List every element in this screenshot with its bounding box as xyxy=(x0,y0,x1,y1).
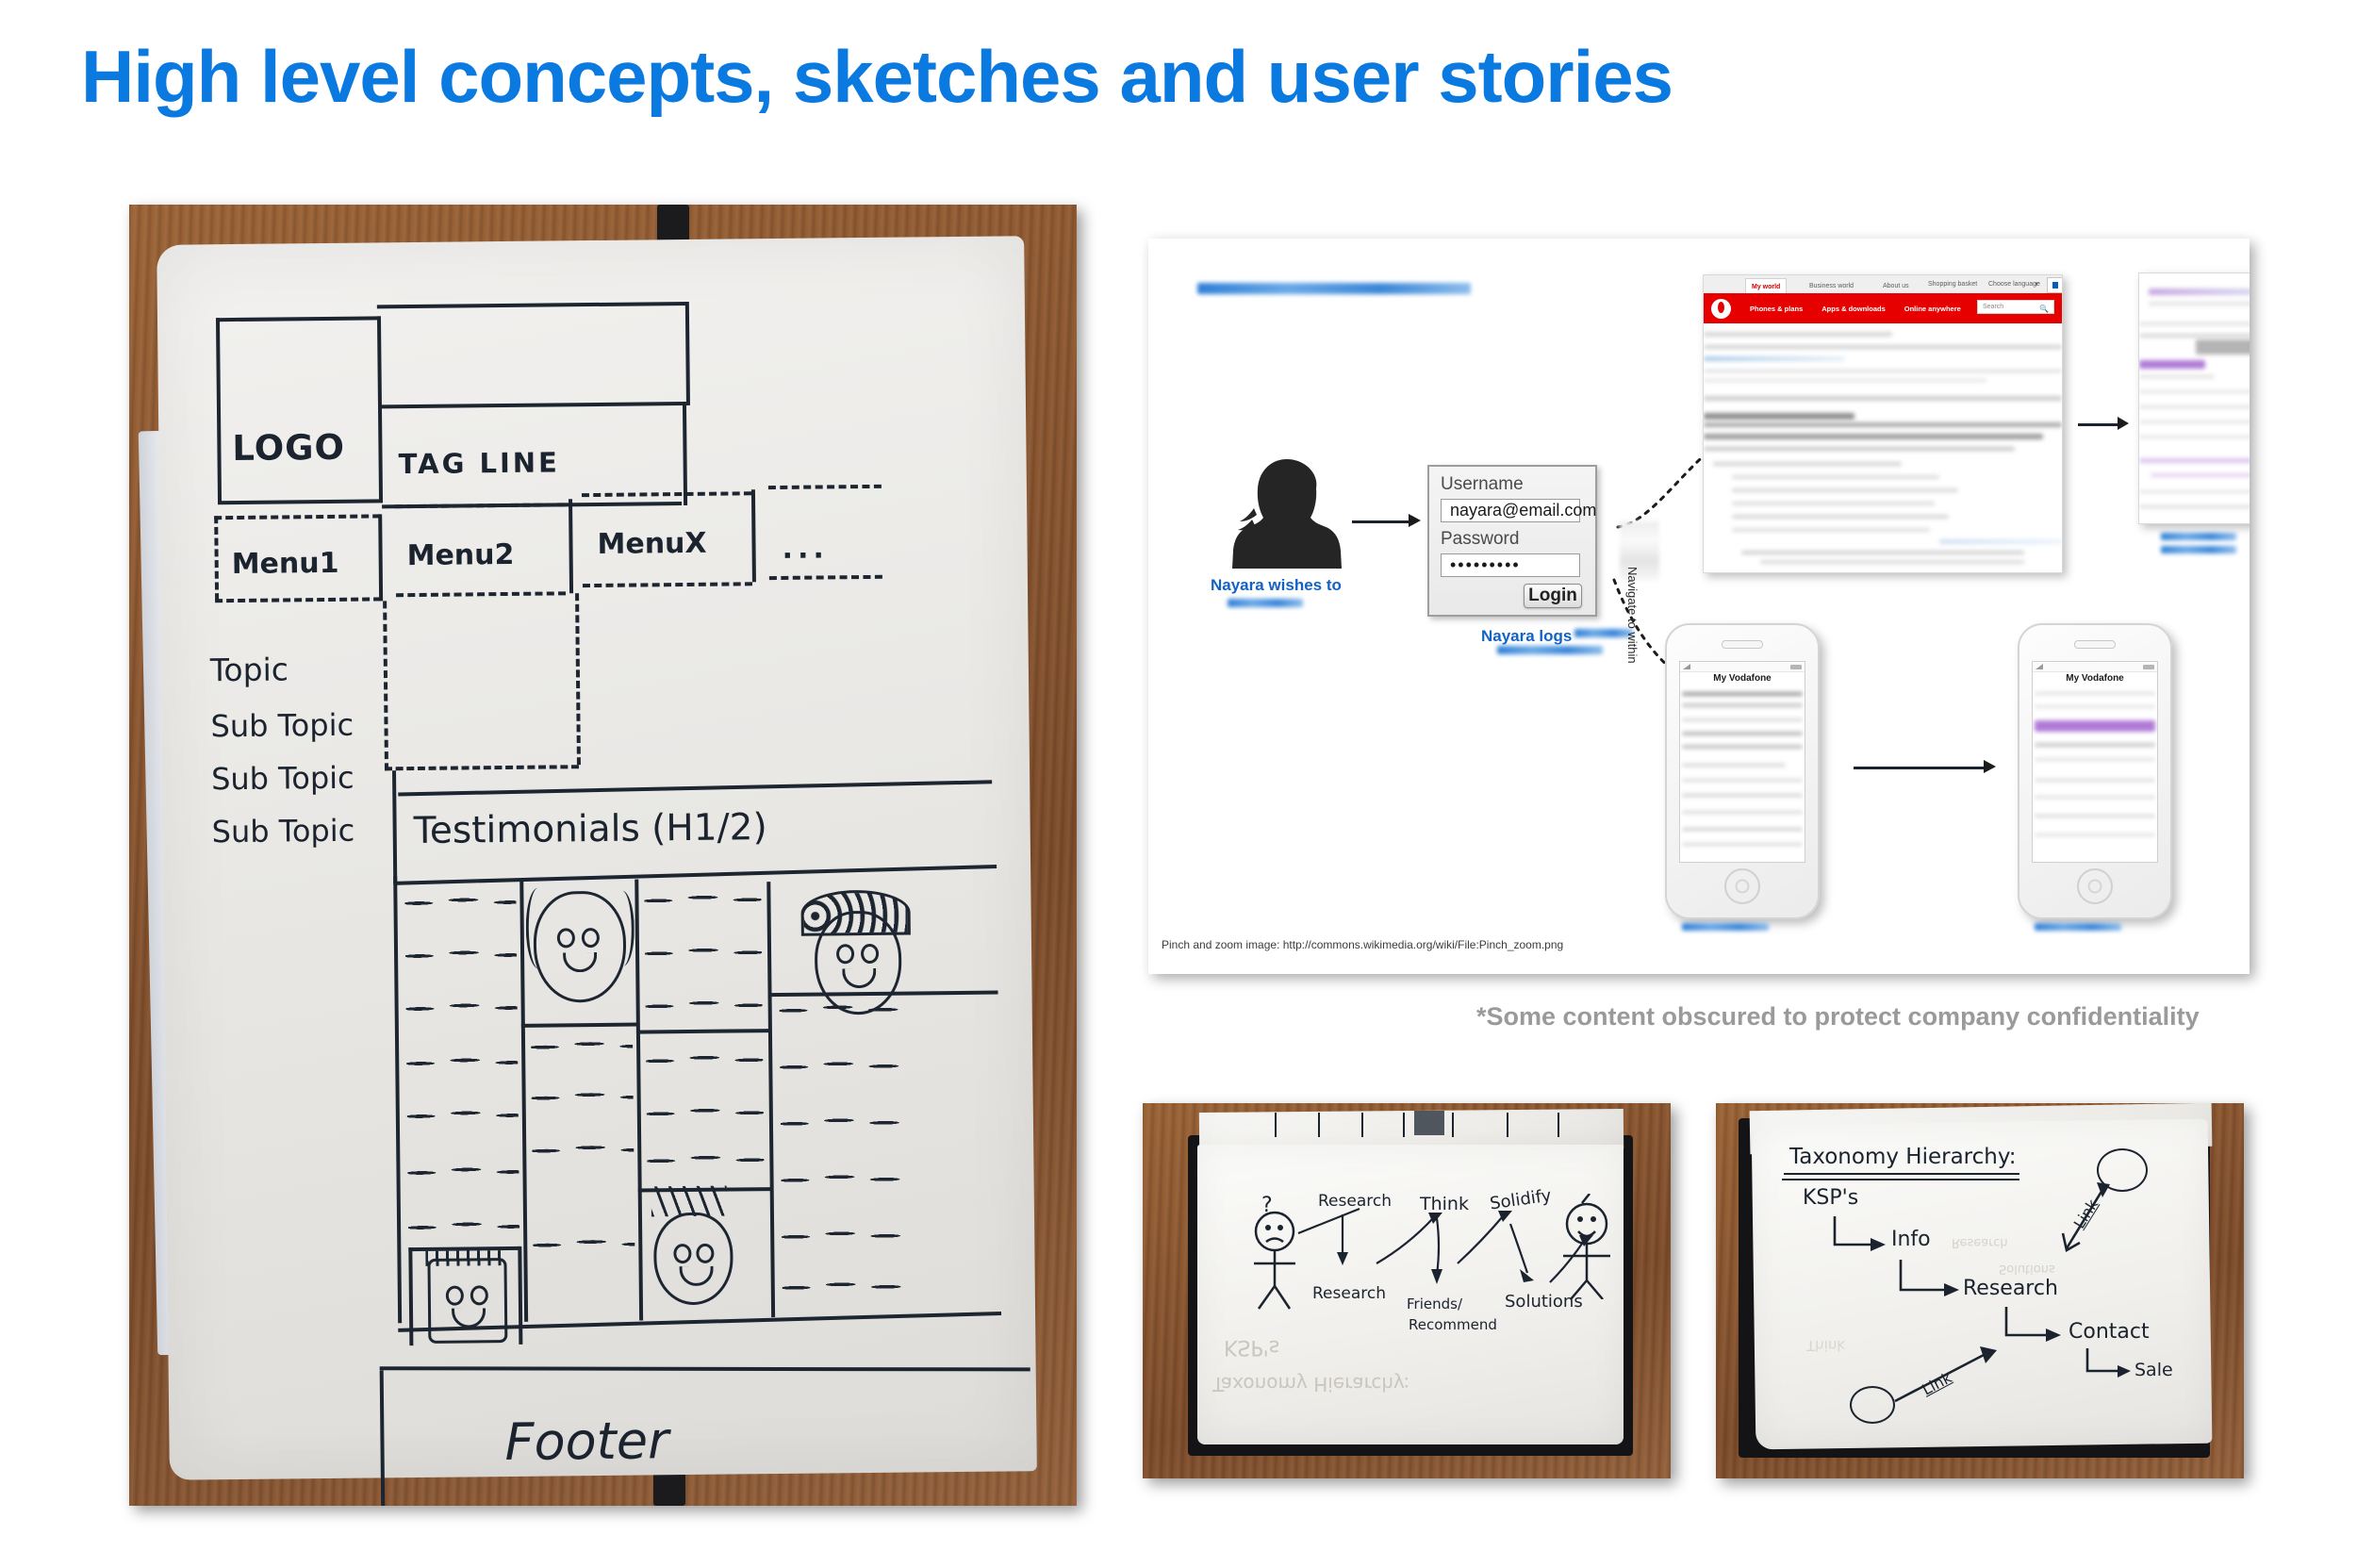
arrow-desktop-to-detail xyxy=(2078,423,2119,426)
source-footnote: Pinch and zoom image: http://commons.wik… xyxy=(1162,938,1563,951)
taxonomy-research: Research xyxy=(1963,1277,2058,1300)
notebook-page: LOGO TAG LINE Menu1 Menu2 MenuX ... Topi… xyxy=(157,236,1037,1480)
phone-mockup-1: My Vodafone xyxy=(1665,623,1820,919)
user-journey-panel: Nayara wishes to Username nayara@email.c… xyxy=(1148,239,2250,974)
nav-phones-plans[interactable]: Phones & plans xyxy=(1750,305,1803,313)
taxonomy-sale: Sale xyxy=(2134,1360,2173,1380)
signal-icon xyxy=(1683,664,1690,669)
sketch-label-menu1: Menu1 xyxy=(232,547,339,581)
doodle-hair-4 xyxy=(651,1186,727,1217)
shopping-basket-link[interactable]: Shopping basket xyxy=(1928,281,1977,288)
choose-language-dropdown[interactable]: Choose language xyxy=(1988,281,2040,288)
sketch-label-menu2: Menu2 xyxy=(406,538,514,572)
arrow-ksps-to-info xyxy=(1829,1214,1897,1260)
nav-apps-downloads[interactable]: Apps & downloads xyxy=(1821,305,1886,313)
sketch-label-tagline: TAG LINE xyxy=(398,446,560,480)
battery-icon xyxy=(1790,665,1802,669)
flow-arrows xyxy=(1199,1160,1624,1405)
user-account-box[interactable]: Ben Smith ▼ xyxy=(2047,277,2063,293)
flow-label-recommend: Recommend xyxy=(1409,1316,1497,1333)
vodafone-main-nav: Phones & plans Apps & downloads Online a… xyxy=(1704,293,2062,323)
obscured-heading-1 xyxy=(1197,283,1471,294)
detail-page-mockup xyxy=(2138,272,2250,524)
sketch-label-menux: MenuX xyxy=(597,527,706,561)
persona-avatar-nayara xyxy=(1231,455,1343,569)
battery-icon-2 xyxy=(2143,665,2154,669)
password-label: Password xyxy=(1441,529,1519,550)
phone-mockup-2: My Vodafone xyxy=(2018,623,2172,919)
phone-1-screen: My Vodafone xyxy=(1679,661,1805,863)
arrow-info-to-research xyxy=(1895,1258,1972,1307)
arrowhead-1 xyxy=(1409,514,1421,527)
navigate-label: Navigate to within xyxy=(1625,567,1640,664)
nav-online-anywhere[interactable]: Online anywhere xyxy=(1904,305,1961,313)
vodafone-desktop-mockup: My world Business world About us Shoppin… xyxy=(1703,274,2063,573)
arrowhead-3 xyxy=(1984,760,1996,773)
user-icon xyxy=(2052,282,2058,289)
doodle-hair-3 xyxy=(425,1250,503,1266)
arrow-persona-to-login xyxy=(1352,520,1410,523)
doodle-hair-2 xyxy=(800,890,910,936)
doodle-hair-1 xyxy=(525,888,552,969)
arrow-research-to-contact xyxy=(2001,1305,2078,1352)
login-form: Username nayara@email.com Password •••••… xyxy=(1427,465,1597,617)
tab-about-us[interactable]: About us xyxy=(1877,278,1915,293)
doodle-face-3 xyxy=(427,1258,507,1344)
tab-business-world[interactable]: Business world xyxy=(1804,278,1859,293)
flow-label-friends: Friends/ xyxy=(1407,1296,1462,1312)
flow-label-think: Think xyxy=(1420,1194,1469,1214)
doodle-face-4 xyxy=(653,1213,733,1306)
flow-label-solutions: Solutions xyxy=(1505,1292,1583,1312)
login-button[interactable]: Login xyxy=(1524,584,1582,608)
chevron-down-icon: ▼ xyxy=(2034,282,2039,288)
password-input[interactable]: ••••••••• xyxy=(1441,553,1580,577)
doodle-hair-1b xyxy=(610,891,635,966)
sketch-label-testimonials: Testimonials (H1/2) xyxy=(413,806,766,852)
tab-my-world[interactable]: My world xyxy=(1745,278,1787,294)
signal-icon-2 xyxy=(2036,664,2043,669)
sketch-label-subtopic-2: Sub Topic xyxy=(211,760,354,798)
obscured-caption-2b xyxy=(1497,646,1603,654)
username-label: Username xyxy=(1441,474,1524,495)
taxonomy-ksps: KSP's xyxy=(1803,1186,1858,1210)
username-input[interactable]: nayara@email.com xyxy=(1441,499,1580,522)
taxonomy-title: Taxonomy Hierarchy: xyxy=(1789,1145,2017,1169)
main-wireframe-sketch-photo: LOGO TAG LINE Menu1 Menu2 MenuX ... Topi… xyxy=(129,205,1077,1506)
persona-caption-2: Nayara logs xyxy=(1481,627,1572,646)
obscured-caption-1 xyxy=(1228,599,1303,607)
arrow-phone-to-phone xyxy=(1854,767,1986,769)
sketch-label-menu-ellipsis: ... xyxy=(782,532,829,566)
taxonomy-info: Info xyxy=(1891,1228,1931,1251)
taxonomy-contact: Contact xyxy=(2069,1320,2150,1344)
page-title: High level concepts, sketches and user s… xyxy=(81,34,1673,120)
persona-caption-1: Nayara wishes to xyxy=(1211,576,1342,595)
arrowhead-2 xyxy=(2118,417,2129,430)
phone-status-bar xyxy=(1680,662,1805,672)
flow-label-research-bottom: Research xyxy=(1312,1284,1386,1303)
vodafone-logo-icon xyxy=(1711,299,1731,319)
sketch-label-topic: Topic xyxy=(210,651,288,688)
sketch-label-subtopic-3: Sub Topic xyxy=(211,813,354,850)
sketch-label-logo: LOGO xyxy=(232,427,345,469)
user-name: Ben Smith xyxy=(2062,282,2063,289)
notebook-binder-top xyxy=(657,205,689,242)
vodafone-utility-bar: My world Business world About us Shoppin… xyxy=(1704,275,2062,294)
flow-label-research-top: Research xyxy=(1318,1192,1392,1211)
phone-2-status-bar xyxy=(2033,662,2157,672)
phone-2-title: My Vodafone xyxy=(2033,673,2157,684)
flow-sketch-photo: KSP's Taxonomy Hierarchy: ? xyxy=(1143,1103,1671,1478)
search-icon: 🔍 xyxy=(2039,305,2049,313)
phone-1-title: My Vodafone xyxy=(1680,673,1805,684)
sketch-label-subtopic-1: Sub Topic xyxy=(210,707,354,745)
taxonomy-sketch-photo: Research Solutions Think Taxonomy Hierar… xyxy=(1716,1103,2244,1478)
confidentiality-note: *Some content obscured to protect compan… xyxy=(1476,1002,2200,1032)
phone-2-screen: My Vodafone xyxy=(2032,661,2158,863)
sketch-label-footer: Footer xyxy=(504,1411,668,1472)
